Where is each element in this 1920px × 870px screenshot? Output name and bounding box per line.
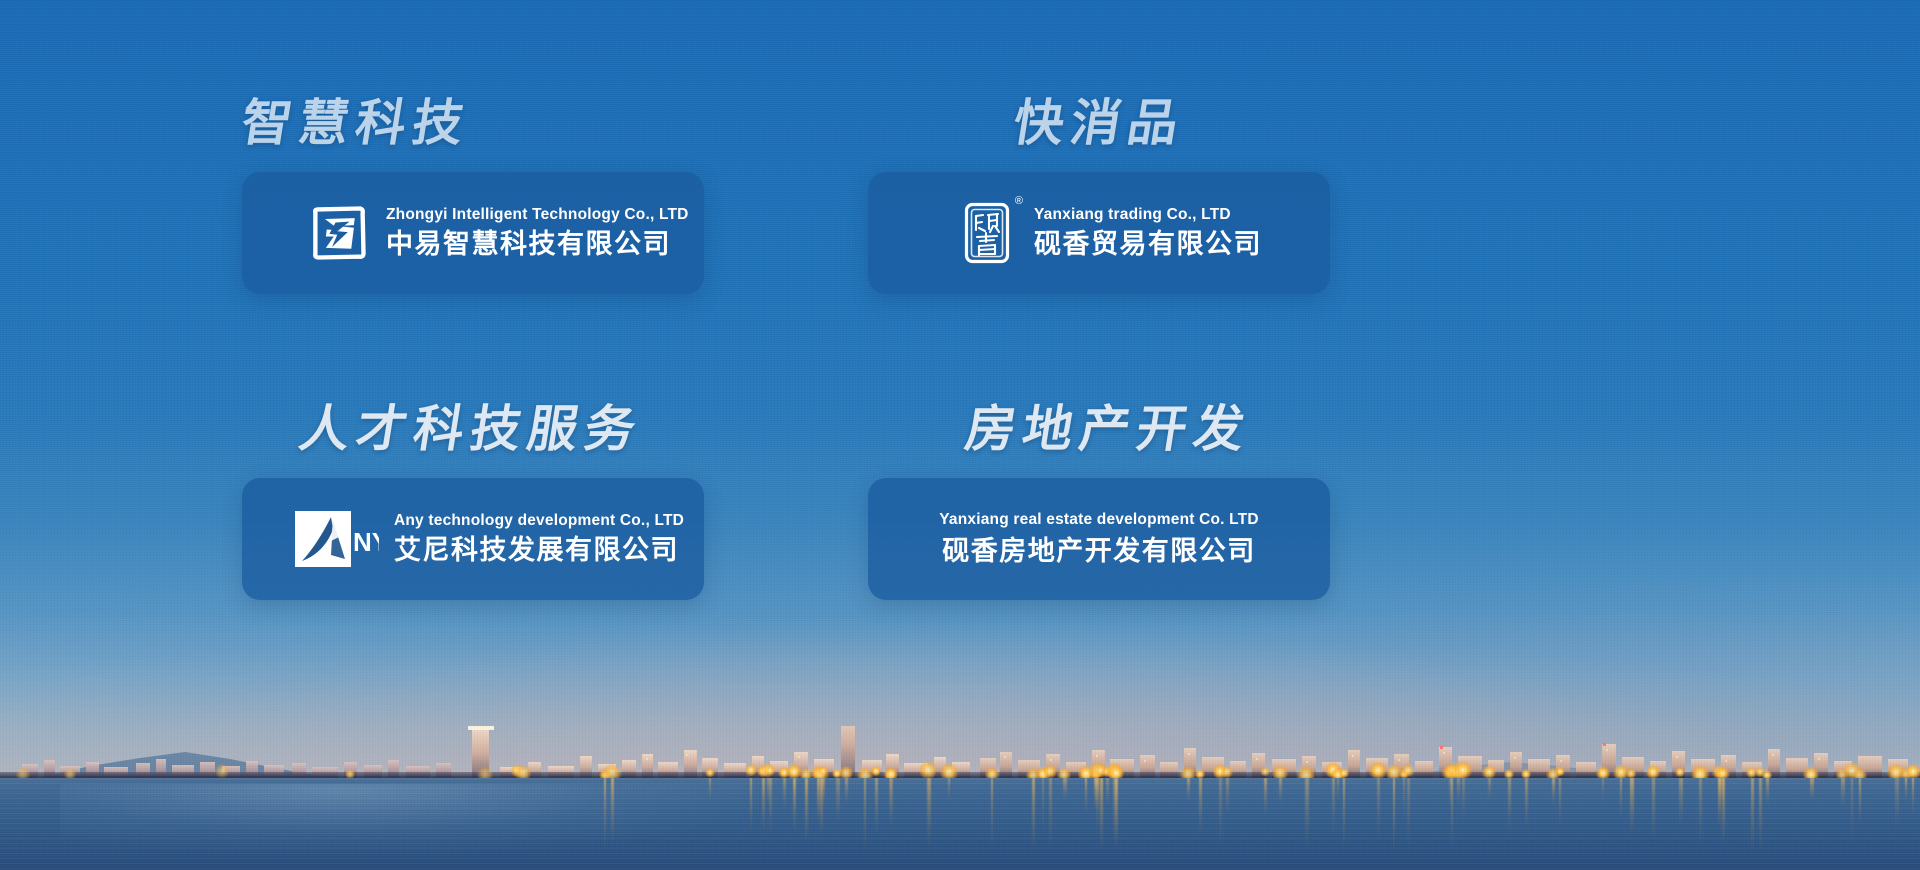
company-name-en: Any technology development Co., LTD [394, 511, 684, 530]
sector-real-estate: 房地产开发 Yanxiang real estate development C… [868, 404, 1330, 600]
company-name-block: Yanxiang trading Co., LTD 砚香贸易有限公司 [1034, 205, 1262, 262]
sectors-grid: 智慧科技 Zhongyi Intelligent Technology Co.,… [0, 0, 1920, 870]
sector-talent-services: 人才科技服务 NY Any technology development Co.… [242, 404, 704, 600]
company-name-block: Yanxiang real estate development Co. LTD… [939, 510, 1259, 569]
company-name-en: Zhongyi Intelligent Technology Co., LTD [386, 205, 689, 224]
hero-banner: 智慧科技 Zhongyi Intelligent Technology Co.,… [0, 0, 1920, 870]
svg-text:NY: NY [353, 527, 379, 557]
registered-trademark-mark: ® [1015, 196, 1023, 207]
sector-smart-technology: 智慧科技 Zhongyi Intelligent Technology Co.,… [242, 98, 704, 294]
sector-fmcg: 快消品 [868, 98, 1330, 294]
yanxiang-seal-icon: ® [958, 204, 1016, 262]
company-name-cn: 砚香贸易有限公司 [1034, 227, 1262, 262]
sector-title: 快消品 [1010, 98, 1334, 148]
company-name-cn: 中易智慧科技有限公司 [386, 227, 689, 262]
any-technology-icon: NY [294, 510, 380, 568]
company-name-en: Yanxiang real estate development Co. LTD [939, 510, 1259, 529]
sector-title: 房地产开发 [962, 404, 1334, 454]
sector-title: 人才科技服务 [296, 404, 708, 454]
company-card-zhongyi[interactable]: Zhongyi Intelligent Technology Co., LTD … [242, 172, 704, 294]
sector-title: 智慧科技 [238, 98, 708, 148]
company-name-block: Any technology development Co., LTD 艾尼科技… [394, 511, 684, 568]
zhongyi-z-seal-icon [310, 204, 368, 262]
company-card-any-technology[interactable]: NY Any technology development Co., LTD 艾… [242, 478, 704, 600]
company-card-yanxiang-real-estate[interactable]: Yanxiang real estate development Co. LTD… [868, 478, 1330, 600]
company-name-en: Yanxiang trading Co., LTD [1034, 205, 1262, 224]
company-card-yanxiang-trading[interactable]: ® Yanxiang trading Co., LTD 砚香贸易有限公司 [868, 172, 1330, 294]
company-name-cn: 砚香房地产开发有限公司 [939, 534, 1259, 569]
company-name-cn: 艾尼科技发展有限公司 [394, 533, 684, 568]
company-name-block: Zhongyi Intelligent Technology Co., LTD … [386, 205, 689, 262]
